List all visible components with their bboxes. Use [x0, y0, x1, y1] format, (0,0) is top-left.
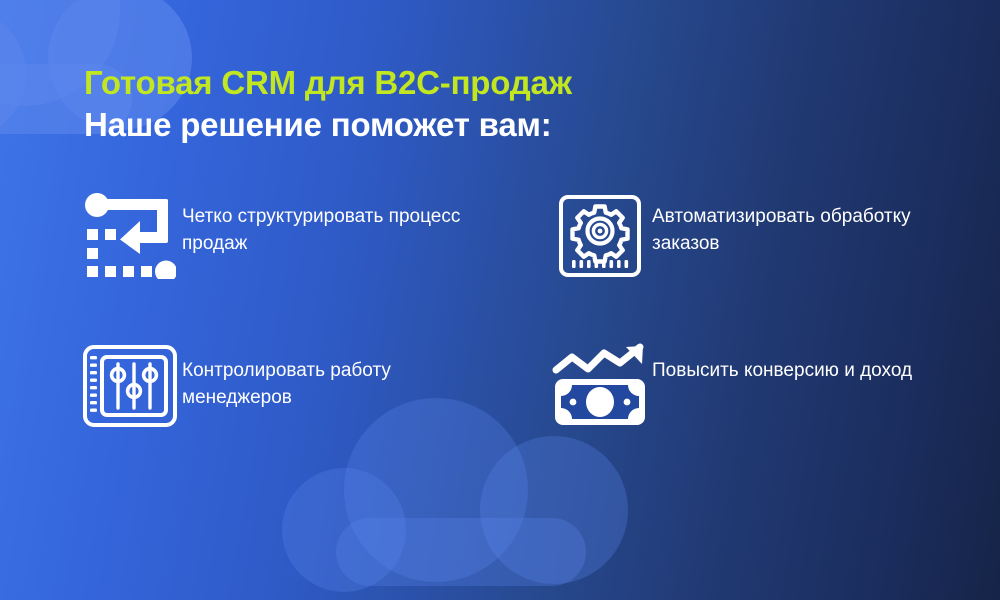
banknote-growth-icon — [548, 336, 652, 436]
feature-item-automation: Автоматизировать обработку заказов — [548, 186, 958, 336]
feature-label: Повысить конверсию и доход — [652, 336, 912, 384]
promo-banner: Готовая CRM для B2C-продаж Наше решение … — [0, 0, 1000, 600]
feature-item-manager-control: Контролировать работу менеджеров — [78, 336, 548, 486]
headline-line-2: Наше решение поможет вам: — [84, 104, 572, 146]
sliders-panel-icon — [78, 336, 182, 436]
gear-chip-icon — [548, 186, 652, 286]
feature-label: Четко структурировать процесс продаж — [182, 186, 482, 257]
feature-list: Четко структурировать процесс продаж — [78, 186, 958, 486]
feature-label: Автоматизировать обработку заказов — [652, 186, 952, 257]
feature-item-process-flow: Четко структурировать процесс продаж — [78, 186, 548, 336]
headline-line-1: Готовая CRM для B2C-продаж — [84, 62, 572, 104]
headline-block: Готовая CRM для B2C-продаж Наше решение … — [84, 62, 572, 146]
process-flow-icon — [78, 186, 182, 286]
feature-label: Контролировать работу менеджеров — [182, 336, 482, 411]
feature-item-revenue-growth: Повысить конверсию и доход — [548, 336, 958, 486]
